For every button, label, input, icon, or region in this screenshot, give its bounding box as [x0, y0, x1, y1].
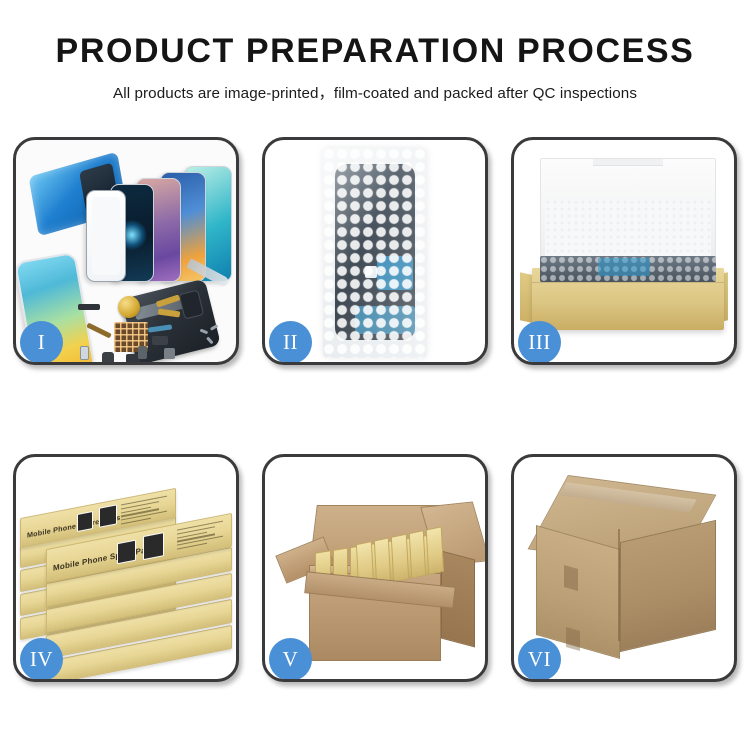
small-part-1: [80, 346, 89, 360]
box-art-phone-2: [99, 504, 117, 527]
carton-right-face: [620, 520, 716, 652]
small-part-2: [102, 352, 114, 362]
step-panel-4: Mobile Phone Spare Parts Mobile Phone Sp…: [13, 454, 239, 682]
component-bar-1: [78, 304, 100, 310]
phone-screen-fan: [88, 152, 236, 282]
kraft-box-tray: [532, 268, 724, 330]
step-badge-5: V: [269, 638, 312, 681]
box-art-phone-4: [143, 532, 164, 560]
phone-screen-1: [86, 190, 126, 282]
step-badge-3: III: [518, 321, 561, 364]
speaker-module-icon: [118, 296, 140, 318]
bubble-wrap-package: [323, 148, 427, 358]
page-subtitle: All products are image-printed，film-coat…: [0, 81, 750, 103]
shipping-carton-sealed: [530, 481, 724, 659]
page-title: PRODUCT PREPARATION PROCESS: [0, 34, 750, 68]
screws-group-icon: [200, 326, 226, 348]
step-panel-3: III: [511, 137, 737, 365]
small-part-4: [164, 348, 175, 359]
step-panel-5: V: [262, 454, 488, 682]
step-panel-2: II: [262, 137, 488, 365]
shipping-carton-open: [283, 487, 475, 665]
plastic-sheen: [323, 148, 427, 358]
box-art-phone-3: [117, 540, 136, 565]
box-spec-lines-front: [177, 521, 223, 553]
step-panel-1: I: [13, 137, 239, 365]
infographic-page: PRODUCT PREPARATION PROCESS All products…: [0, 0, 750, 750]
box-art-phone-1: [77, 511, 93, 532]
wrapped-product-in-box: [540, 256, 716, 282]
tray-edge-line: [532, 282, 724, 283]
step-badge-2: II: [269, 321, 312, 364]
header: PRODUCT PREPARATION PROCESS All products…: [0, 0, 750, 103]
process-steps-grid: I II: [13, 137, 737, 682]
step-badge-1: I: [20, 321, 63, 364]
box-lid-tab: [593, 159, 663, 166]
step-panel-6: VI: [511, 454, 737, 682]
component-bar-2: [152, 336, 168, 345]
step-badge-6: VI: [518, 638, 561, 681]
carton-mark-1: [564, 565, 578, 591]
carton-mark-2: [566, 627, 580, 651]
carton-corner-seam: [618, 529, 620, 641]
small-part-3: [138, 346, 147, 359]
step-badge-4: IV: [20, 638, 63, 681]
